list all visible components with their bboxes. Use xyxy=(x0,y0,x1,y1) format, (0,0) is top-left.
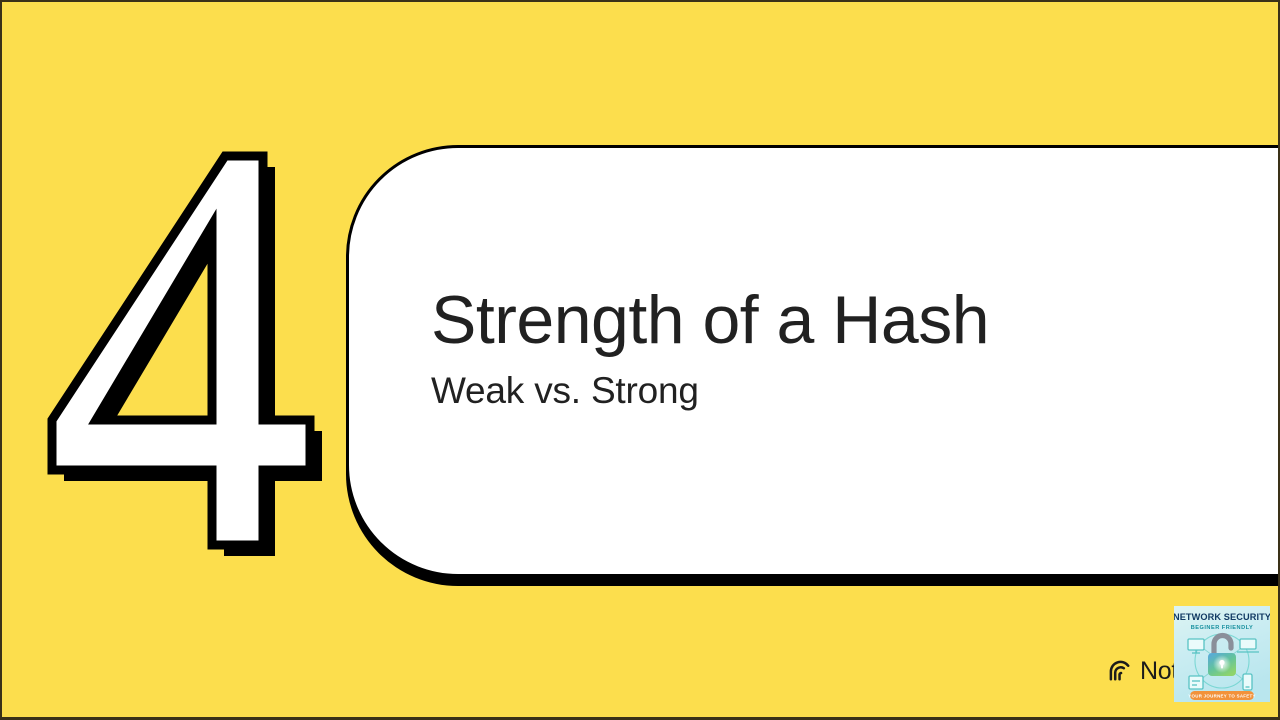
title-card: Strength of a Hash Weak vs. Strong xyxy=(346,145,1280,577)
server-icon xyxy=(1189,676,1203,689)
page-title: Strength of a Hash xyxy=(431,284,1263,356)
slide-number-graphic xyxy=(16,120,346,580)
note-arcs-logo-icon xyxy=(1108,659,1133,684)
phone-icon xyxy=(1243,674,1252,690)
thumbnail-banner: YOUR JOURNEY TO SAFETY xyxy=(1188,691,1255,700)
title-card-content: Strength of a Hash Weak vs. Strong xyxy=(431,284,1263,413)
slide-frame: Strength of a Hash Weak vs. Strong Note xyxy=(0,0,1280,720)
thumbnail-tagline: BEGINER FRIENDLY xyxy=(1191,625,1254,631)
thumbnail-title: NETWORK SECURITY xyxy=(1174,612,1270,622)
page-subtitle: Weak vs. Strong xyxy=(431,370,1263,413)
svg-text:YOUR JOURNEY TO SAFETY: YOUR JOURNEY TO SAFETY xyxy=(1188,694,1255,699)
video-thumbnail[interactable]: NETWORK SECURITY BEGINER FRIENDLY YOUR J… xyxy=(1174,606,1270,702)
